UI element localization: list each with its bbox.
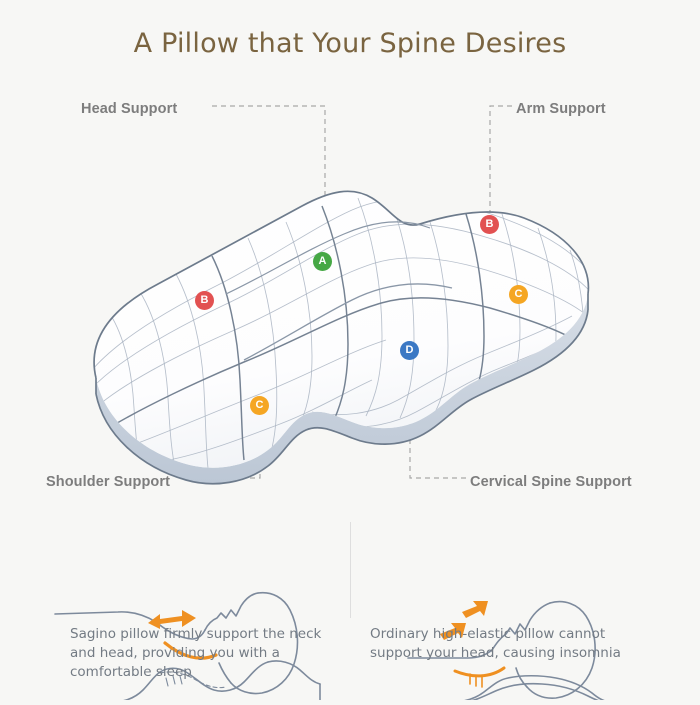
pillow-body	[92, 191, 594, 483]
neck-gap-curve-right	[455, 668, 504, 676]
marker-d-cervical[interactable]: D	[400, 341, 419, 360]
leader-line-arm	[490, 106, 512, 218]
marker-b-arm-left[interactable]: B	[195, 291, 214, 310]
comparison-caption-left: Sagino pillow firmly support the neck an…	[70, 625, 332, 682]
marker-c-shoulder-left[interactable]: C	[250, 396, 269, 415]
pillow-diagram	[0, 78, 700, 508]
callout-label-shoulder-support: Shoulder Support	[46, 474, 170, 490]
callout-label-cervical-spine-support: Cervical Spine Support	[470, 474, 632, 490]
marker-c-shoulder-right[interactable]: C	[509, 285, 528, 304]
marker-a-head[interactable]: A	[313, 252, 332, 271]
infographic-page: A Pillow that Your Spine Desires	[0, 0, 700, 700]
marker-b-arm-right[interactable]: B	[480, 215, 499, 234]
callout-label-head-support: Head Support	[81, 101, 177, 117]
pillow-wireframe-svg	[0, 78, 700, 508]
comparison-caption-right: Ordinary high-elastic pillow cannot supp…	[370, 625, 660, 663]
page-title: A Pillow that Your Spine Desires	[0, 28, 700, 59]
callout-label-arm-support: Arm Support	[516, 101, 606, 117]
